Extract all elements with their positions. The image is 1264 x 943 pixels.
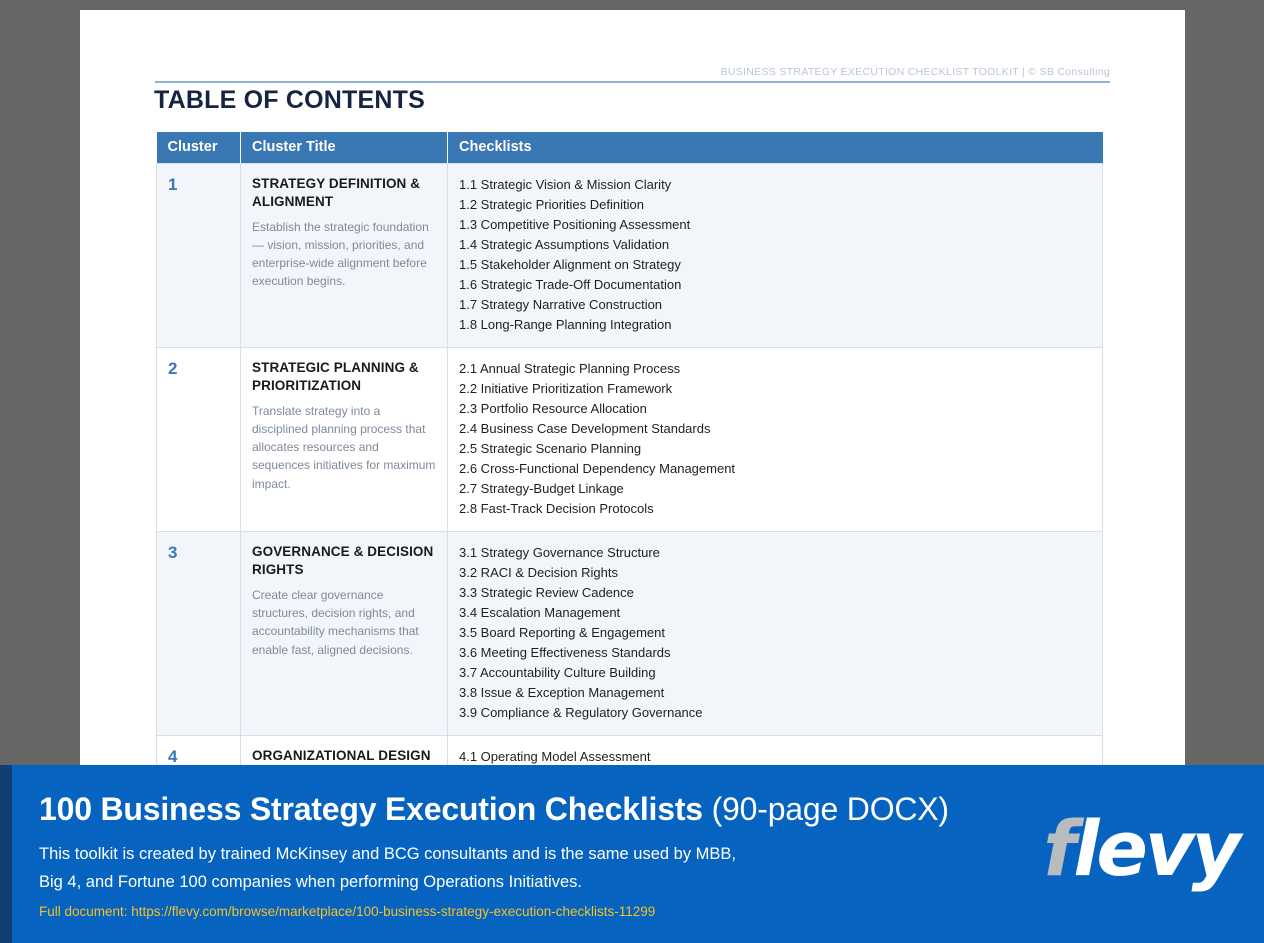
checklist-item: 3.7 Accountability Culture Building [459, 663, 1092, 683]
cluster-number-cell: 3 [157, 532, 241, 736]
cluster-description: Translate strategy into a disciplined pl… [252, 402, 437, 493]
checklist-item: 1.3 Competitive Positioning Assessment [459, 215, 1092, 235]
table-header-row: Cluster Cluster Title Checklists [157, 132, 1103, 164]
checklist-item: 2.6 Cross-Functional Dependency Manageme… [459, 459, 1092, 479]
checklists-cell: 3.1 Strategy Governance Structure3.2 RAC… [448, 532, 1103, 736]
banner-left-edge-strip [0, 765, 12, 943]
checklist-item: 3.9 Compliance & Regulatory Governance [459, 703, 1092, 723]
checklists-cell: 4.1 Operating Model Assessment4.2 Organi… [448, 736, 1103, 765]
page-title: TABLE OF CONTENTS [154, 86, 425, 115]
flevy-logo[interactable]: flevy [1043, 811, 1238, 887]
checklist-item: 1.1 Strategic Vision & Mission Clarity [459, 175, 1092, 195]
cluster-title-cell: STRATEGIC PLANNING & PRIORITIZATIONTrans… [241, 348, 448, 532]
cluster-number-cell: 1 [157, 164, 241, 348]
banner-headline-title: 100 Business Strategy Execution Checklis… [39, 791, 703, 827]
checklists-cell: 1.1 Strategic Vision & Mission Clarity1.… [448, 164, 1103, 348]
banner-headline-format: (90-page DOCX) [712, 791, 949, 827]
checklist-list: 4.1 Operating Model Assessment4.2 Organi… [459, 747, 1092, 765]
document-header-text: BUSINESS STRATEGY EXECUTION CHECKLIST TO… [721, 66, 1110, 78]
checklist-item: 3.3 Strategic Review Cadence [459, 583, 1092, 603]
slide-canvas: BUSINESS STRATEGY EXECUTION CHECKLIST TO… [80, 10, 1185, 765]
checklist-item: 1.2 Strategic Priorities Definition [459, 195, 1092, 215]
checklist-item: 2.2 Initiative Prioritization Framework [459, 379, 1092, 399]
cluster-title-cell: ORGANIZATIONAL DESIGN & ALIGNMENTAlign o… [241, 736, 448, 765]
full-document-link[interactable]: Full document: https://flevy.com/browse/… [39, 904, 655, 919]
cluster-title: ORGANIZATIONAL DESIGN & ALIGNMENT [252, 747, 437, 765]
checklist-item: 1.7 Strategy Narrative Construction [459, 295, 1092, 315]
checklist-item: 3.4 Escalation Management [459, 603, 1092, 623]
cluster-title: GOVERNANCE & DECISION RIGHTS [252, 543, 437, 579]
checklist-item: 3.6 Meeting Effectiveness Standards [459, 643, 1092, 663]
checklist-item: 2.8 Fast-Track Decision Protocols [459, 499, 1092, 519]
flevy-logo-levy: levy [1073, 804, 1238, 893]
cluster-description: Establish the strategic foundation — vis… [252, 218, 437, 291]
checklist-item: 2.4 Business Case Development Standards [459, 419, 1092, 439]
cluster-number: 1 [168, 175, 230, 193]
cluster-number-cell: 2 [157, 348, 241, 532]
checklist-list: 1.1 Strategic Vision & Mission Clarity1.… [459, 175, 1092, 335]
cluster-title-cell: STRATEGY DEFINITION & ALIGNMENTEstablish… [241, 164, 448, 348]
column-header-checklists: Checklists [448, 132, 1103, 164]
cluster-number-cell: 4 [157, 736, 241, 765]
table-body: 1STRATEGY DEFINITION & ALIGNMENTEstablis… [157, 164, 1103, 766]
table-row: 3GOVERNANCE & DECISION RIGHTSCreate clea… [157, 532, 1103, 736]
checklist-item: 1.6 Strategic Trade-Off Documentation [459, 275, 1092, 295]
header-divider-rule [155, 81, 1110, 83]
cluster-number: 2 [168, 359, 230, 377]
cluster-number: 4 [168, 747, 230, 765]
cluster-number: 3 [168, 543, 230, 561]
checklist-item: 1.5 Stakeholder Alignment on Strategy [459, 255, 1092, 275]
banner-headline: 100 Business Strategy Execution Checklis… [39, 791, 949, 828]
cluster-title: STRATEGY DEFINITION & ALIGNMENT [252, 175, 437, 211]
checklist-item: 2.7 Strategy-Budget Linkage [459, 479, 1092, 499]
checklist-item: 4.1 Operating Model Assessment [459, 747, 1092, 765]
checklist-item: 1.8 Long-Range Planning Integration [459, 315, 1092, 335]
table-row: 2STRATEGIC PLANNING & PRIORITIZATIONTran… [157, 348, 1103, 532]
flevy-logo-f: f [1043, 804, 1073, 893]
document-header: BUSINESS STRATEGY EXECUTION CHECKLIST TO… [155, 62, 1110, 80]
table-row: 4ORGANIZATIONAL DESIGN & ALIGNMENTAlign … [157, 736, 1103, 765]
cluster-description: Create clear governance structures, deci… [252, 586, 437, 659]
checklist-item: 2.3 Portfolio Resource Allocation [459, 399, 1092, 419]
table-of-contents-table: Cluster Cluster Title Checklists 1STRATE… [156, 132, 1103, 765]
checklist-list: 2.1 Annual Strategic Planning Process2.2… [459, 359, 1092, 519]
checklist-item: 2.1 Annual Strategic Planning Process [459, 359, 1092, 379]
column-header-cluster-title: Cluster Title [241, 132, 448, 164]
checklist-item: 3.8 Issue & Exception Management [459, 683, 1092, 703]
cluster-title: STRATEGIC PLANNING & PRIORITIZATION [252, 359, 437, 395]
checklist-item: 3.2 RACI & Decision Rights [459, 563, 1092, 583]
checklist-item: 2.5 Strategic Scenario Planning [459, 439, 1092, 459]
checklist-item: 3.1 Strategy Governance Structure [459, 543, 1092, 563]
table-row: 1STRATEGY DEFINITION & ALIGNMENTEstablis… [157, 164, 1103, 348]
checklist-item: 3.5 Board Reporting & Engagement [459, 623, 1092, 643]
flevy-promo-banner: 100 Business Strategy Execution Checklis… [0, 765, 1264, 943]
checklist-list: 3.1 Strategy Governance Structure3.2 RAC… [459, 543, 1092, 723]
banner-description-line-1: This toolkit is created by trained McKin… [39, 845, 736, 864]
checklists-cell: 2.1 Annual Strategic Planning Process2.2… [448, 348, 1103, 532]
banner-description-line-2: Big 4, and Fortune 100 companies when pe… [39, 873, 582, 892]
checklist-item: 1.4 Strategic Assumptions Validation [459, 235, 1092, 255]
cluster-title-cell: GOVERNANCE & DECISION RIGHTSCreate clear… [241, 532, 448, 736]
column-header-cluster: Cluster [157, 132, 241, 164]
